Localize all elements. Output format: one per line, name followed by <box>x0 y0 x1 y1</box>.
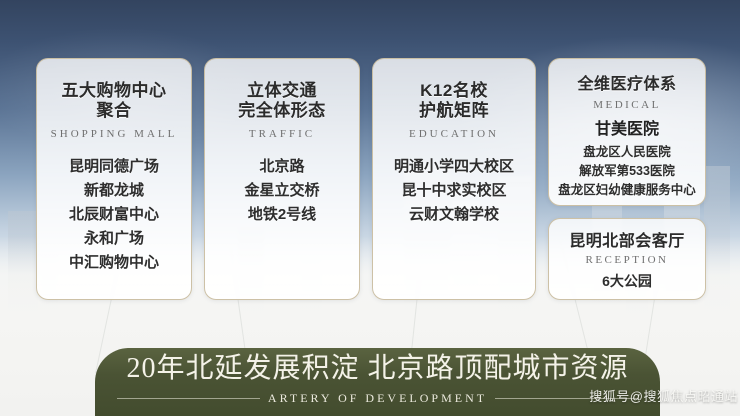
list-item: 云财文翰学校 <box>373 203 535 227</box>
list-item: 地铁2号线 <box>205 203 359 227</box>
card-subtitle: EDUCATION <box>373 128 535 141</box>
list-item: 永和广场 <box>37 227 191 251</box>
list-item: 盘龙区人民医院 <box>549 143 705 162</box>
card-subtitle: TRAFFIC <box>205 128 359 141</box>
card-title: 五大购物中心 聚合 <box>37 81 191 121</box>
list-item: 6大公园 <box>549 272 705 290</box>
card-subtitle: RECEPTION <box>549 254 705 267</box>
banner-subline: ARTERY OF DEVELOPMENT <box>268 391 487 406</box>
watermark-text: 搜狐号@搜狐焦点昭通站 <box>589 386 738 405</box>
list-item: 昆十中求实校区 <box>373 179 535 203</box>
card-lead-item: 甘美医院 <box>549 119 705 141</box>
banner-subline-row: ARTERY OF DEVELOPMENT <box>95 391 660 406</box>
list-item: 北京路 <box>205 155 359 179</box>
list-item: 新都龙城 <box>37 179 191 203</box>
card-title: K12名校 护航矩阵 <box>373 81 535 121</box>
card-item-list: 明通小学四大校区 昆十中求实校区 云财文翰学校 <box>373 155 535 227</box>
list-item: 解放军第533医院 <box>549 162 705 181</box>
list-item: 金星立交桥 <box>205 179 359 203</box>
card-title: 全维医疗体系 <box>549 75 705 95</box>
banner-headline: 20年北延发展积淀 北京路顶配城市资源 <box>95 352 660 386</box>
card-title: 昆明北部会客厅 <box>549 232 705 252</box>
info-card-shopping[interactable]: 五大购物中心 聚合 SHOPPING MALL 昆明同德广场 新都龙城 北辰财富… <box>36 58 192 300</box>
card-item-list: 甘美医院 盘龙区人民医院 解放军第533医院 盘龙区妇幼健康服务中心 <box>549 119 705 200</box>
card-subtitle: MEDICAL <box>549 99 705 112</box>
banner-rule-left <box>117 398 260 399</box>
card-title: 立体交通 完全体形态 <box>205 81 359 121</box>
list-item: 北辰财富中心 <box>37 203 191 227</box>
list-item: 盘龙区妇幼健康服务中心 <box>549 181 705 200</box>
card-subtitle: SHOPPING MALL <box>37 128 191 141</box>
info-card-education[interactable]: K12名校 护航矩阵 EDUCATION 明通小学四大校区 昆十中求实校区 云财… <box>372 58 536 300</box>
list-item: 明通小学四大校区 <box>373 155 535 179</box>
info-card-traffic[interactable]: 立体交通 完全体形态 TRAFFIC 北京路 金星立交桥 地铁2号线 <box>204 58 360 300</box>
info-card-medical[interactable]: 全维医疗体系 MEDICAL 甘美医院 盘龙区人民医院 解放军第533医院 盘龙… <box>548 58 706 206</box>
bottom-banner: 20年北延发展积淀 北京路顶配城市资源 ARTERY OF DEVELOPMEN… <box>95 348 660 416</box>
info-card-reception[interactable]: 昆明北部会客厅 RECEPTION 6大公园 <box>548 218 706 300</box>
list-item: 中汇购物中心 <box>37 251 191 275</box>
card-item-list: 昆明同德广场 新都龙城 北辰财富中心 永和广场 中汇购物中心 <box>37 155 191 275</box>
list-item: 昆明同德广场 <box>37 155 191 179</box>
card-item-list: 北京路 金星立交桥 地铁2号线 <box>205 155 359 227</box>
poster-stage: 五大购物中心 聚合 SHOPPING MALL 昆明同德广场 新都龙城 北辰财富… <box>0 0 740 416</box>
card-item-list: 6大公园 <box>549 272 705 290</box>
